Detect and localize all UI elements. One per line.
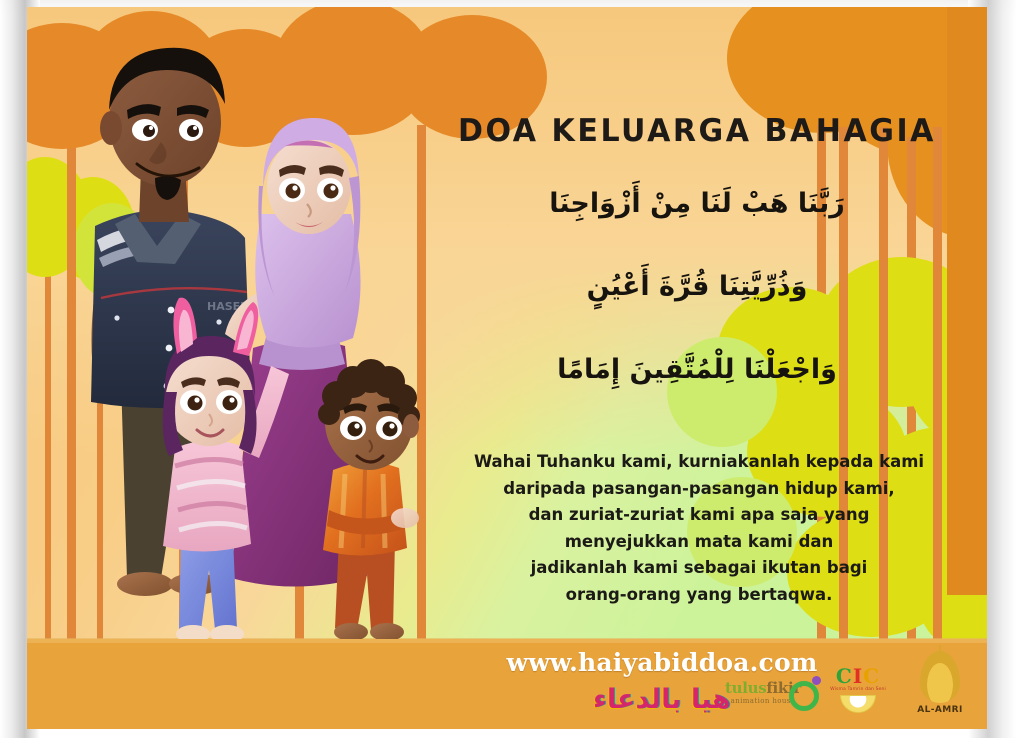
page-title: DOA KELUARGA BAHAGIA (416, 113, 979, 149)
translation-line: dan zuriat-zuriat kami apa saja yang (425, 502, 973, 529)
tulusfikir-dot-icon (812, 676, 821, 685)
cic-subtitle: Wisma Tamrin dan Seni (821, 687, 895, 692)
arabic-line-3: وَاجْعَلْنَا لِلْمُتَّقِينَ إِمَامًا (407, 355, 987, 385)
cic-emblem-icon (840, 695, 876, 713)
al-amri-leaf-icon (920, 651, 960, 703)
translation-line: menyejukkan mata kami dan (425, 529, 973, 556)
arabic-line-1: رَبَّنَا هَبْ لَنَا مِنْ أَزْوَاجِنَا (407, 189, 987, 219)
boy-figure (318, 359, 420, 641)
logo-cic: CIC Wisma Tamrin dan Seni (821, 666, 895, 713)
translation-block: Wahai Tuhanku kami, kurniakanlah kepada … (425, 449, 973, 608)
arabic-line-2: وَذُرِّيَّتِنَا قُرَّةَ أَعْيُنٍ (407, 272, 987, 302)
logo-al-amri: AL-AMRI (907, 651, 973, 715)
tulusfikir-word-a: tulus (725, 679, 766, 697)
tulusfikir-ring-icon (789, 681, 819, 711)
cic-wordmark: CIC (821, 666, 895, 686)
al-amri-wordmark: AL-AMRI (907, 705, 973, 715)
cic-letter-1: C (836, 664, 853, 688)
logo-tulusfikir: tulusfikir animation house (711, 681, 815, 705)
poster-artwork: HASEN (27, 7, 987, 729)
poster-frame: HASEN (0, 0, 1016, 738)
logo-row: tulusfikir animation house CIC Wisma Tam… (718, 649, 973, 721)
family-illustration: HASEN (57, 18, 447, 643)
translation-line: jadikanlah kami sebagai ikutan bagi (425, 555, 973, 582)
cic-letter-2: I (853, 664, 863, 688)
text-column: DOA KELUARGA BAHAGIA رَبَّنَا هَبْ لَنَا… (407, 7, 987, 647)
translation-line: orang-orang yang bertaqwa. (425, 582, 973, 609)
translation-line: Wahai Tuhanku kami, kurniakanlah kepada … (425, 449, 973, 476)
cic-letter-3: C (863, 664, 880, 688)
translation-line: daripada pasangan-pasangan hidup kami, (425, 476, 973, 503)
